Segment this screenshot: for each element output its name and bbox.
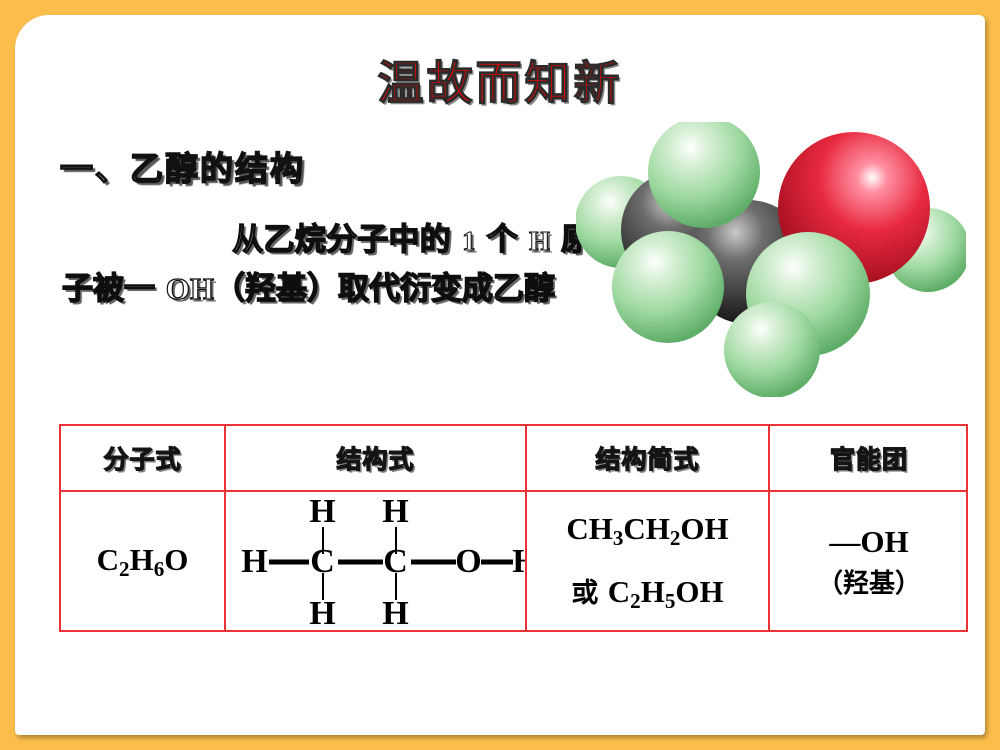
formula-part: O: [164, 542, 188, 577]
atom-c1: C: [310, 545, 335, 579]
formula-part: C: [608, 574, 630, 609]
header-label: 分子式: [103, 440, 181, 476]
ethanol-molecule-model: [576, 122, 966, 397]
table-cell-functional-group: —OH （羟基）: [770, 492, 968, 632]
condensed-formula-line-1: CH3CH2OH: [566, 510, 728, 551]
functional-group-name: （羟基）: [817, 568, 921, 601]
formula-part: CH: [623, 511, 670, 546]
formula-part: CH: [566, 511, 613, 546]
condensed-formula-line-2: 或 C2H5OH: [571, 573, 723, 614]
body-paragraph: 从乙烷分子中的 1 个 H 原子被一 OH（羟基）取代衍变成乙醇: [62, 216, 592, 313]
table-header-condensed-formula: 结构简式: [527, 426, 770, 492]
structural-formula-diagram: H C C O H H H H H: [231, 495, 521, 629]
paragraph-part-b: 个: [476, 222, 529, 258]
formula-part: C: [97, 542, 119, 577]
paragraph-symbol-h: H: [529, 226, 550, 256]
page-title: 温故而知新: [0, 47, 1000, 113]
formula-conjunction: 或: [571, 578, 607, 609]
header-label: 结构式: [336, 440, 414, 476]
formula-part: H: [641, 574, 665, 609]
formula-part: H: [130, 542, 154, 577]
table-cell-molecular-formula: C2H6O: [61, 492, 226, 632]
hydrogen-atom: [724, 302, 820, 397]
bond-c2-o: [411, 560, 456, 565]
bond-h-c1: [269, 560, 309, 565]
paragraph-symbol-oh: OH: [166, 271, 214, 306]
slide-canvas: 温故而知新 一、乙醇的结构 从乙烷分子中的 1 个 H 原子被一 OH（羟基）取…: [0, 0, 1000, 750]
formula-subscript: 3: [613, 526, 624, 550]
formula-subscript: 2: [119, 557, 130, 581]
atom-h-c2-top: H: [382, 495, 408, 529]
atom-h-right: H: [512, 545, 527, 579]
table-header-molecular-formula: 分子式: [61, 426, 226, 492]
formula-subscript: 2: [670, 526, 681, 550]
paragraph-number-1: 1: [462, 226, 476, 256]
atom-h-c2-bottom: H: [382, 597, 408, 631]
functional-group-symbol: —OH: [829, 523, 908, 562]
atom-h-c1-bottom: H: [309, 597, 335, 631]
paragraph-part-a: 的: [420, 222, 462, 258]
formula-part: OH: [680, 511, 728, 546]
paragraph-line-3: （羟基）取代衍变成乙醇: [214, 271, 555, 307]
hydrogen-atom: [612, 231, 724, 343]
formula-subscript: 5: [665, 589, 676, 613]
formula-subscript: 2: [630, 589, 641, 613]
table-header-functional-group: 官能团: [770, 426, 968, 492]
molecular-formula-value: C2H6O: [97, 541, 189, 582]
table-header-structural-formula: 结构式: [226, 426, 527, 492]
properties-table: 分子式 结构式 结构简式 官能团 C2H6O: [59, 424, 968, 632]
formula-part: OH: [675, 574, 723, 609]
bond-o-h: [481, 560, 513, 565]
atom-h-left: H: [241, 545, 267, 579]
atom-c2: C: [383, 545, 408, 579]
section-heading: 一、乙醇的结构: [60, 142, 305, 190]
atom-h-c1-top: H: [309, 495, 335, 529]
molecule-svg: [576, 122, 966, 397]
paragraph-line-1: 从乙烷分子中: [232, 222, 420, 258]
table-cell-condensed-formula: CH3CH2OH 或 C2H5OH: [527, 492, 770, 632]
header-label: 官能团: [830, 440, 908, 476]
table-cell-structural-formula: H C C O H H H H H: [226, 492, 527, 632]
bond-c1-c2: [338, 560, 383, 565]
formula-subscript: 6: [154, 557, 165, 581]
header-label: 结构简式: [595, 440, 699, 476]
atom-o: O: [455, 545, 481, 579]
